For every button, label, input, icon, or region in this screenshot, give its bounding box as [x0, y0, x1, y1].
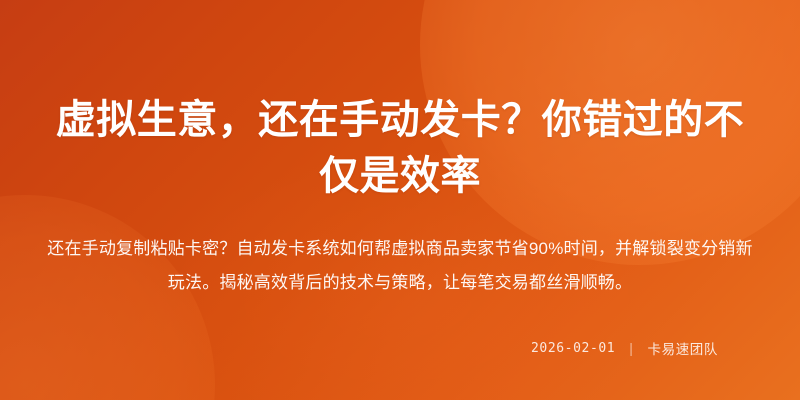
meta-separator: |	[629, 341, 633, 355]
article-cover-poster: 虚拟生意，还在手动发卡？你错过的不仅是效率 还在手动复制粘贴卡密？自动发卡系统如…	[0, 0, 800, 400]
poster-meta: 2026-02-01 | 卡易速团队	[40, 338, 760, 358]
author-name: 卡易速团队	[648, 338, 719, 358]
page-subtitle: 还在手动复制粘贴卡密？自动发卡系统如何帮虚拟商品卖家节省90%时间，并解锁裂变分…	[40, 204, 760, 300]
poster-content: 虚拟生意，还在手动发卡？你错过的不仅是效率 还在手动复制粘贴卡密？自动发卡系统如…	[0, 0, 800, 400]
publish-date: 2026-02-01	[531, 341, 615, 356]
page-title: 虚拟生意，还在手动发卡？你错过的不仅是效率	[55, 0, 745, 204]
